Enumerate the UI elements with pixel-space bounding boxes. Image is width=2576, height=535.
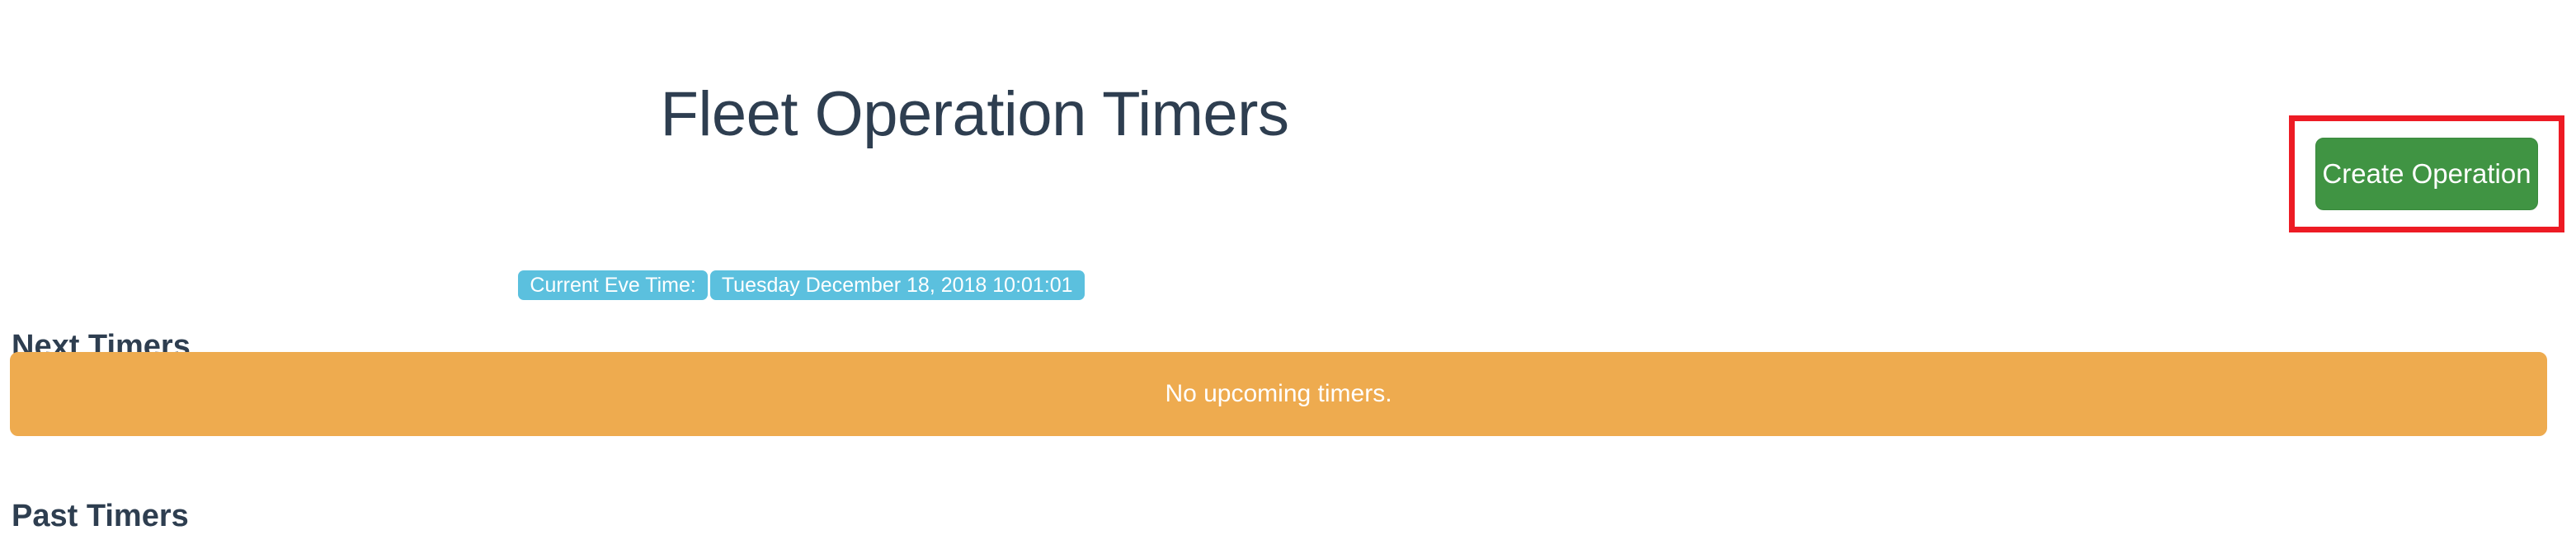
fleet-operation-timers-page: Fleet Operation Timers Create Operation … (0, 0, 2576, 509)
eve-time-badge-group: Current Eve Time: Tuesday December 18, 2… (518, 270, 1084, 300)
eve-time-value: Tuesday December 18, 2018 10:01:01 (710, 270, 1085, 300)
past-timers-heading: Past Timers (12, 498, 189, 535)
page-title: Fleet Operation Timers (0, 80, 1949, 149)
create-operation-button[interactable]: Create Operation (2315, 138, 2538, 210)
eve-time-bar: Current Eve Time: Tuesday December 18, 2… (0, 270, 2576, 300)
eve-time-label: Current Eve Time: (518, 270, 707, 300)
next-timers-empty-message: No upcoming timers. (1165, 379, 1392, 409)
next-timers-empty-alert: No upcoming timers. (10, 352, 2547, 436)
